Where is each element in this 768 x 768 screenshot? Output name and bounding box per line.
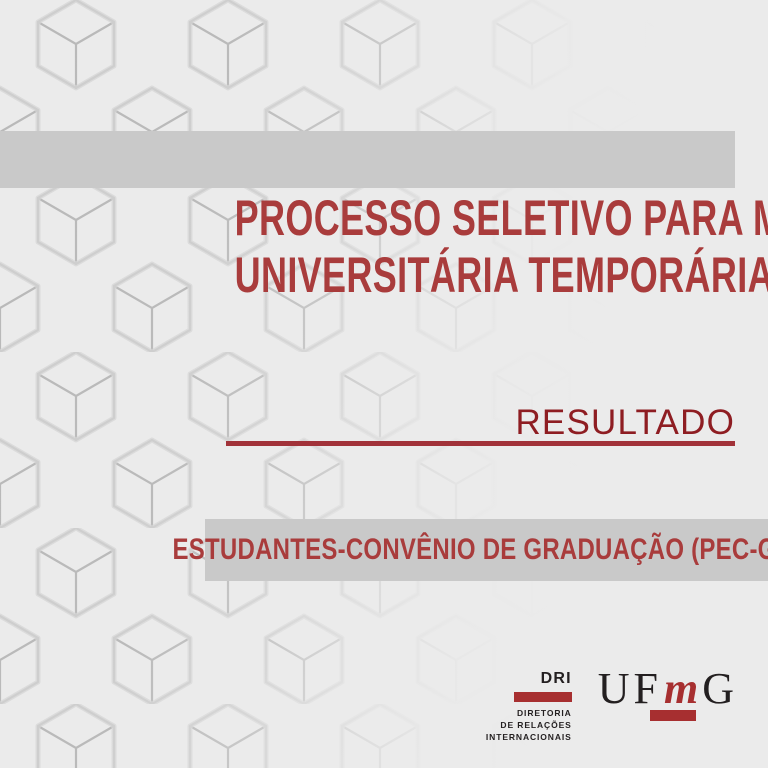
dri-subtitle-line-3: INTERNACIONAIS [486, 731, 572, 743]
logo-group: DRI DIRETORIA DE RELAÇÕES INTERNACIONAIS… [486, 666, 738, 743]
ufmg-red-bar [650, 710, 696, 721]
isometric-cube-pattern [0, 0, 768, 768]
page-title: PROCESSO SELETIVO PARA MORADIA UNIVERSIT… [40, 190, 735, 304]
ufmg-letter-m: m [662, 666, 702, 712]
dri-logo: DRI DIRETORIA DE RELAÇÕES INTERNACIONAIS [486, 666, 572, 743]
dri-red-bar [514, 692, 572, 702]
poster-canvas: PROCESSO SELETIVO PARA MORADIA UNIVERSIT… [0, 0, 768, 768]
pattern-fade-overlay [0, 0, 768, 768]
dri-acronym: DRI [486, 670, 572, 687]
dri-subtitle-line-1: DIRETORIA [486, 707, 572, 719]
title-line-2: UNIVERSITÁRIA TEMPORÁRIA [235, 247, 735, 304]
red-divider-rule [226, 441, 735, 446]
dri-subtitle-line-2: DE RELAÇÕES [486, 719, 572, 731]
ufmg-letter-g: G [702, 666, 738, 712]
ufmg-letter-u: U [598, 666, 634, 712]
result-label: RESULTADO [515, 404, 735, 442]
ufmg-letter-f: F [634, 666, 662, 712]
top-grey-band [0, 131, 735, 188]
ufmg-logo: U F m G [598, 666, 738, 712]
title-line-1: PROCESSO SELETIVO PARA MORADIA [235, 190, 735, 247]
subtitle-text-wrapper: ESTUDANTES-CONVÊNIO DE GRADUAÇÃO (PEC-G) [205, 519, 753, 581]
subtitle-text: ESTUDANTES-CONVÊNIO DE GRADUAÇÃO (PEC-G) [173, 533, 768, 567]
